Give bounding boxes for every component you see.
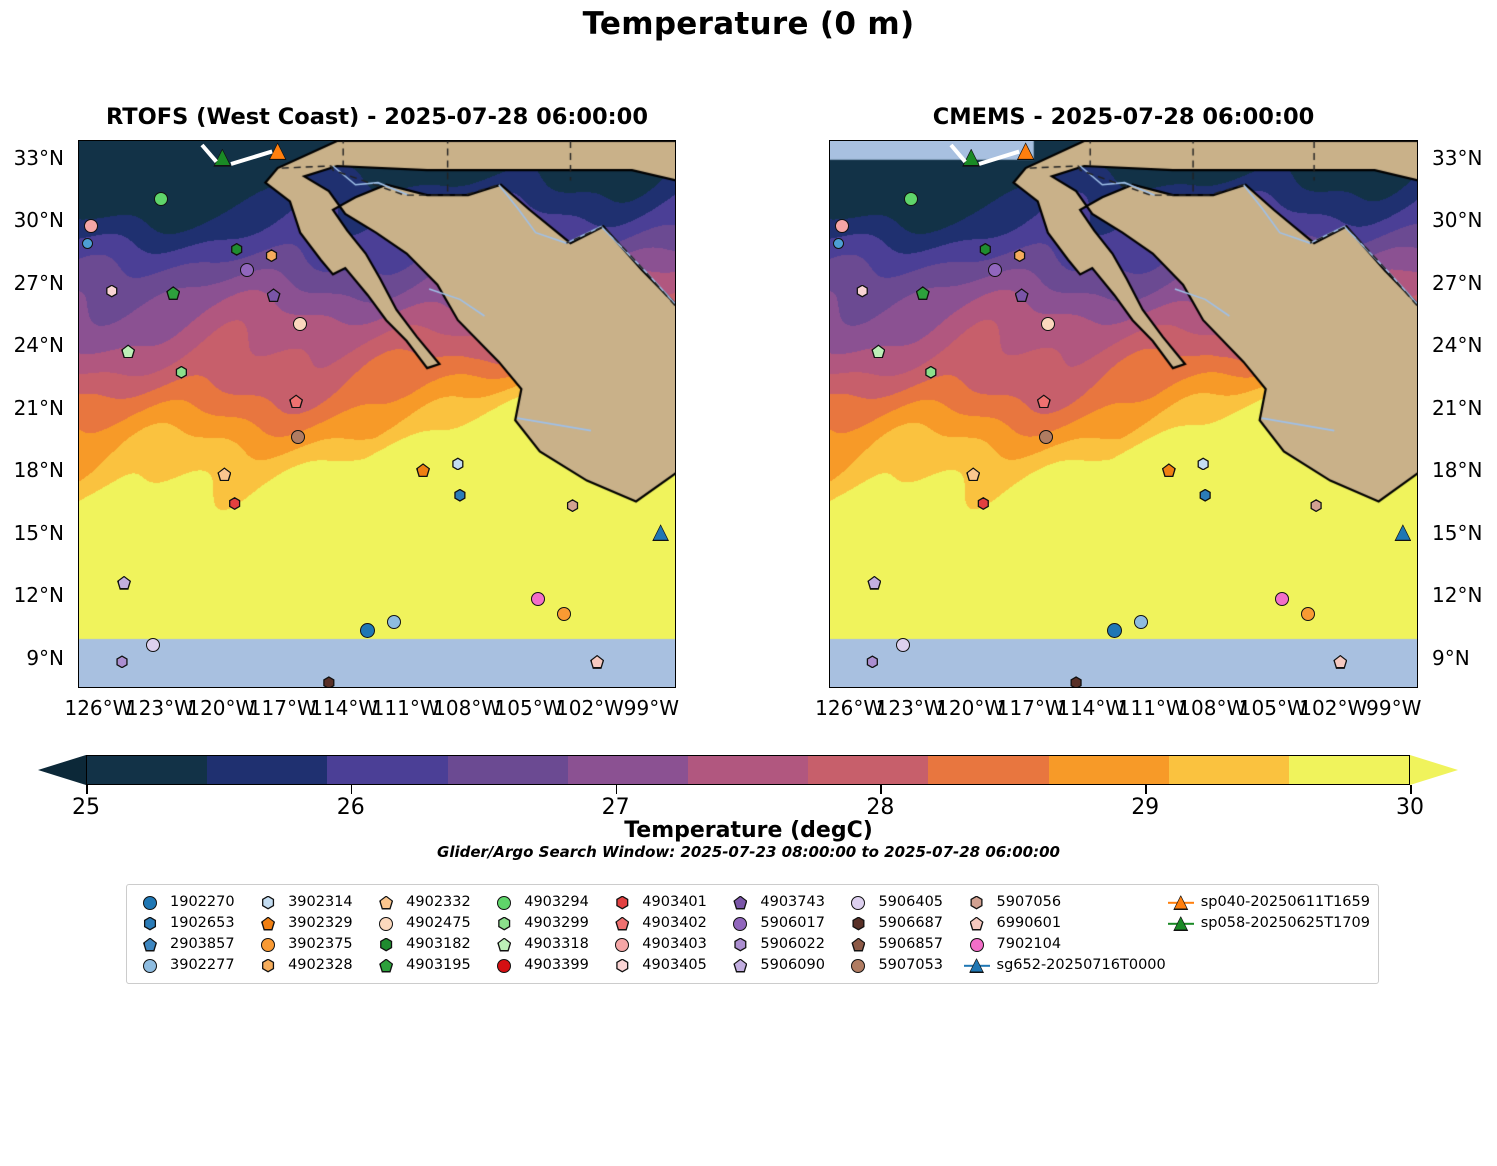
legend-item-sg652-20250716T0000[interactable]: sg652-20250716T0000 [962,955,1166,976]
legend-marker-pent-icon [609,915,635,933]
colorbar-segment-5 [688,756,808,784]
x-tick-minor [0,1082,2,1089]
x-tick [0,248,2,259]
colorbar-segment-1 [207,756,327,784]
legend-label: 3902329 [288,913,353,934]
legend-marker-pent-icon [373,894,399,912]
map-marker-5906022[interactable] [116,655,129,668]
map-marker-4903399[interactable] [1107,623,1122,638]
map-marker-3902277[interactable] [833,238,844,249]
colorbar-tick [880,785,882,794]
legend-label: 4903299 [524,913,589,934]
x-tick-minor [0,548,2,555]
x-tick-minor [0,513,2,520]
map-marker-4903743[interactable] [267,288,281,302]
legend-marker-pent-icon [255,915,281,933]
x-tick-label: 111°W [372,696,440,720]
legend-item-4903294[interactable]: 4903294 [489,892,607,913]
legend-marker-pent-icon [727,894,753,912]
colorbar-segment-9 [1169,756,1289,784]
sst-field-cmems [830,141,1418,688]
x-tick-minor [0,1110,2,1117]
legend-marker-tri-icon [1168,915,1194,933]
legend-label: 4902475 [406,913,471,934]
y-tick-label: 9°N [1432,646,1470,670]
map-marker-4903402[interactable] [289,394,303,408]
y-tick-label: 33°N [0,146,64,170]
legend-item-5906017[interactable]: 5906017 [725,913,843,934]
x-tick-label: 120°W [187,696,255,720]
y-tick-label: 27°N [0,271,64,295]
legend-label: 4903402 [642,913,707,934]
x-tick-label: 117°W [997,696,1065,720]
search-window-text: Glider/Argo Search Window: 2025-07-23 08… [0,843,1497,861]
legend-label: 1902653 [170,913,235,934]
colorbar-tick-label: 30 [1380,795,1440,820]
x-tick [0,765,2,776]
x-tick-label: 99°W [1360,696,1428,720]
legend-item-2903857[interactable]: 2903857 [135,934,253,955]
legend-marker-hex-icon [255,957,281,975]
legend-item-6990601[interactable]: 6990601 [962,913,1166,934]
x-tick-minor [0,1152,2,1159]
legend-marker-tri-icon [1168,894,1194,912]
map-marker-3902329[interactable] [1162,463,1176,477]
x-tick [0,171,2,182]
map-marker-4903299[interactable] [924,366,937,379]
x-tick-minor [0,942,2,949]
x-tick-label: 102°W [556,696,624,720]
legend-marker-hex-icon [137,915,163,933]
x-tick-minor [0,373,2,380]
x-tick [0,116,2,127]
legend-item-1902653[interactable]: 1902653 [135,913,253,934]
legend-item-4903402[interactable]: 4903402 [607,913,725,934]
map-marker-4903318[interactable] [121,344,135,358]
colorbar-tick [351,785,353,794]
y-tick-label: 27°N [1432,271,1482,295]
legend-item-5906405[interactable]: 5906405 [843,892,961,913]
x-tick-label: 99°W [617,696,685,720]
x-tick-minor [0,949,2,956]
legend-label: 4903743 [760,892,825,913]
legend-marker-pent-icon [137,936,163,954]
legend-label: 4903399 [524,955,589,976]
legend-item-7902104[interactable]: 7902104 [962,934,1166,955]
legend-item-4903318[interactable]: 4903318 [489,934,607,955]
x-tick-minor [0,1075,2,1082]
map-marker-4903401[interactable] [228,497,241,510]
legend-item-5906687[interactable]: 5906687 [843,913,961,934]
x-tick-minor [0,450,2,457]
x-tick-minor [0,1047,2,1054]
colorbar-tick [616,785,618,794]
map-marker-5906687[interactable] [322,676,335,688]
x-tick [0,699,2,710]
map-marker-4902475[interactable] [1041,317,1055,331]
x-tick [0,259,2,270]
map-marker-4903403[interactable] [835,219,849,233]
map-marker-4903403[interactable] [84,219,98,233]
legend-label: 4903294 [524,892,589,913]
map-marker-1902653[interactable] [1199,489,1212,502]
legend-label: 3902375 [288,934,353,955]
map-marker-5906090[interactable] [117,576,131,590]
legend-item-3902375[interactable]: 3902375 [253,934,371,955]
y-tick-label: 9°N [0,646,64,670]
colorbar-tick-label: 25 [56,795,116,820]
x-tick-minor [0,310,2,317]
map-marker-5906022[interactable] [866,655,879,668]
y-tick-label: 30°N [1432,208,1482,232]
legend-label: 5906090 [760,955,825,976]
x-tick-minor [0,1138,2,1145]
x-tick-minor [0,984,2,991]
map-marker-1902653[interactable] [453,489,466,502]
x-tick-minor [0,956,2,963]
x-tick-minor [0,317,2,324]
platform-legend[interactable]: 1902270190265329038573902277390231439023… [126,884,1379,984]
legend-marker-tri-icon [964,957,990,975]
x-tick-minor [0,928,2,935]
x-tick [0,875,2,886]
legend-item-1902270[interactable]: 1902270 [135,892,253,913]
x-tick-minor [0,1145,2,1152]
x-tick-minor [0,1068,2,1075]
x-tick-minor [0,569,2,576]
legend-marker-pent-icon [964,915,990,933]
map-panel-rtofs[interactable] [78,140,676,688]
legend-marker-hex-icon [727,936,753,954]
legend-item-5906022[interactable]: 5906022 [725,934,843,955]
y-tick-label: 30°N [0,208,64,232]
x-tick-minor [0,1124,2,1131]
map-marker-5907056[interactable] [566,499,579,512]
x-tick-label: 114°W [310,696,378,720]
legend-label: sg652-20250716T0000 [997,955,1166,976]
x-tick-label: 126°W [64,696,132,720]
legend-marker-hex-icon [609,957,635,975]
legend-marker-circle-icon [845,957,871,975]
y-tick-label: 33°N [1432,146,1482,170]
legend-marker-pent-icon [373,957,399,975]
x-tick-minor [0,963,2,970]
legend-marker-circle-icon [137,957,163,975]
legend-item-5906857[interactable]: 5906857 [843,934,961,955]
x-tick-minor [0,562,2,569]
x-tick-label: 108°W [1178,696,1246,720]
x-tick [0,787,2,798]
legend-item-3902314[interactable]: 3902314 [253,892,371,913]
colorbar-tick [1145,785,1147,794]
x-tick-label: 123°W [876,696,944,720]
map-marker-4903405[interactable] [105,285,118,298]
x-tick-minor [0,429,2,436]
x-tick-label: 123°W [126,696,194,720]
legend-item-5907053[interactable]: 5907053 [843,955,961,976]
x-tick [0,105,2,116]
legend-label: 3902314 [288,892,353,913]
legend-label: 5907053 [878,955,943,976]
x-tick-minor [0,359,2,366]
colorbar-segment-6 [808,756,928,784]
legend-marker-circle-icon [255,936,281,954]
x-tick-minor [0,576,2,583]
legend-label: 6990601 [997,913,1062,934]
legend-item-4903399[interactable]: 4903399 [489,955,607,976]
x-tick [0,182,2,193]
x-tick-minor [0,991,2,998]
colorbar-tick-label: 29 [1115,795,1175,820]
map-marker-5906090[interactable] [867,576,881,590]
x-tick-minor [0,893,2,900]
map-marker-4903195[interactable] [916,286,930,300]
map-marker-5907053[interactable] [1039,430,1053,444]
colorbar-tick [1410,785,1412,794]
legend-item-sp058-20250625T1709[interactable]: sp058-20250625T1709 [1166,913,1370,934]
y-tick-label: 12°N [0,583,64,607]
x-tick-label: 105°W [1239,696,1307,720]
x-tick [0,83,2,94]
x-tick-minor [0,921,2,928]
legend-item-3902329[interactable]: 3902329 [253,913,371,934]
legend-item-5907056[interactable]: 5907056 [962,892,1166,913]
legend-item-4903743[interactable]: 4903743 [725,892,843,913]
x-tick [0,776,2,787]
colorbar-extend-low [38,755,86,785]
colorbar-segment-4 [568,756,688,784]
y-tick-label: 21°N [0,396,64,420]
x-tick-label: 105°W [495,696,563,720]
legend-item-4903401[interactable]: 4903401 [607,892,725,913]
x-tick-minor [0,436,2,443]
legend-label: 5907056 [997,892,1062,913]
map-marker-4903294[interactable] [154,192,168,206]
legend-marker-circle-icon [727,915,753,933]
x-tick-minor [0,977,2,984]
x-tick-minor [0,1061,2,1068]
legend-label: 5906405 [878,892,943,913]
map-marker-4903182[interactable] [230,243,243,256]
x-tick-label: 102°W [1299,696,1367,720]
map-marker-3902314[interactable] [1197,457,1210,470]
panel-title-rtofs: RTOFS (West Coast) - 2025-07-28 06:00:00 [35,104,719,130]
x-tick-minor [0,422,2,429]
legend-label: sp058-20250625T1709 [1201,913,1370,934]
legend-item-4903182[interactable]: 4903182 [371,934,489,955]
legend-item-sp040-20250611T1659[interactable]: sp040-20250611T1659 [1166,892,1370,913]
legend-marker-circle-icon [964,936,990,954]
legend-label: 4902332 [406,892,471,913]
legend-label: 4902328 [288,955,353,976]
colorbar-tick-label: 27 [586,795,646,820]
map-marker-4903405[interactable] [856,285,869,298]
legend-label: 4903318 [524,934,589,955]
y-tick-label: 12°N [1432,583,1482,607]
colorbar-segment-8 [1049,756,1169,784]
legend-label: 2903857 [170,934,235,955]
colorbar-segment-7 [928,756,1048,784]
colorbar-segment-3 [448,756,568,784]
y-tick-label: 24°N [1432,333,1482,357]
map-marker-5906017[interactable] [240,263,254,277]
x-tick-minor [0,1040,2,1047]
map-marker-5907053[interactable] [291,430,305,444]
legend-marker-circle-icon [491,957,517,975]
legend-label: 4903195 [406,955,471,976]
x-tick-label: 117°W [249,696,317,720]
x-tick-minor [0,1103,2,1110]
figure-title: Temperature (0 m) [0,6,1497,42]
map-marker-4903743[interactable] [1015,288,1029,302]
x-tick [0,237,2,248]
colorbar [38,755,1458,785]
sst-field-rtofs [79,141,676,688]
x-tick [0,754,2,765]
x-tick-minor [0,492,2,499]
x-tick-label: 111°W [1118,696,1186,720]
x-tick-minor [0,485,2,492]
map-marker-4903299[interactable] [175,366,188,379]
x-tick [0,94,2,105]
map-marker-3902277[interactable] [82,238,93,249]
y-tick-label: 18°N [0,458,64,482]
x-tick-label: 114°W [1057,696,1125,720]
colorbar-label: Temperature (degC) [0,818,1497,843]
x-tick-minor [0,1054,2,1061]
legend-marker-pent-icon [727,957,753,975]
legend-label: 7902104 [997,934,1062,955]
legend-label: 4903405 [642,955,707,976]
map-marker-7902104[interactable] [1275,592,1289,606]
x-tick-label: 120°W [936,696,1004,720]
map-marker-5906687[interactable] [1070,676,1083,688]
map-marker-3902329[interactable] [416,463,430,477]
x-tick-minor [0,1012,2,1019]
colorbar-body [86,755,1410,785]
legend-item-3902277[interactable]: 3902277 [135,955,253,976]
map-marker-5907056[interactable] [1310,499,1323,512]
map-marker-4903401[interactable] [977,497,990,510]
legend-item-4902328[interactable]: 4902328 [253,955,371,976]
map-marker-4903182[interactable] [979,243,992,256]
x-tick [0,127,2,138]
x-tick [0,193,2,204]
map-marker-3902375[interactable] [557,607,571,621]
legend-marker-circle-icon [609,936,635,954]
map-marker-4903195[interactable] [166,286,180,300]
legend-marker-pent-icon [845,936,871,954]
map-marker-7902104[interactable] [531,592,545,606]
map-panel-cmems[interactable] [829,140,1418,688]
x-tick-minor [0,443,2,450]
map-marker-6990601[interactable] [1333,655,1347,669]
map-marker-4903294[interactable] [904,192,918,206]
legend-label: 4903401 [642,892,707,913]
x-tick-minor [0,1159,2,1166]
x-tick-minor [0,555,2,562]
y-tick-label: 24°N [0,333,64,357]
map-marker-4902328[interactable] [1013,249,1026,262]
legend-item-4903299[interactable]: 4903299 [489,913,607,934]
map-marker-3902314b[interactable] [1134,615,1148,629]
legend-label: 4903403 [642,934,707,955]
legend-marker-pent-icon [491,936,517,954]
x-tick-label: 108°W [433,696,501,720]
legend-label: 5906687 [878,913,943,934]
x-tick-minor [0,380,2,387]
legend-item-4902475[interactable]: 4902475 [371,913,489,934]
x-tick-minor [0,1026,2,1033]
legend-marker-hex-icon [609,894,635,912]
map-marker-3902375[interactable] [1301,607,1315,621]
x-tick-minor [0,1117,2,1124]
y-tick-label: 21°N [1432,396,1482,420]
colorbar-tick [86,785,88,794]
legend-marker-hex-icon [964,894,990,912]
legend-marker-hex-icon [373,936,399,954]
colorbar-tick-label: 28 [850,795,910,820]
x-tick-minor [0,366,2,373]
legend-item-4903195[interactable]: 4903195 [371,955,489,976]
map-marker-6990601[interactable] [590,655,604,669]
legend-item-5906090[interactable]: 5906090 [725,955,843,976]
x-tick-minor [0,387,2,394]
x-tick-minor [0,1033,2,1040]
map-marker-4902332[interactable] [217,467,231,481]
map-marker-4902328[interactable] [265,249,278,262]
x-tick-minor [0,1019,2,1026]
x-tick-minor [0,914,2,921]
colorbar-tick-label: 26 [321,795,381,820]
x-tick-minor [0,900,2,907]
map-marker-5906405[interactable] [146,638,160,652]
x-tick-minor [0,1131,2,1138]
legend-label: 4903182 [406,934,471,955]
legend-marker-hex-icon [491,915,517,933]
map-marker-4902332[interactable] [966,467,980,481]
map-marker-sg652-20250716T0000[interactable] [652,524,669,541]
map-marker-3902314[interactable] [451,457,464,470]
colorbar-segment-0 [87,756,207,784]
panel-title-cmems: CMEMS - 2025-07-28 06:00:00 [829,104,1418,130]
map-marker-4903402[interactable] [1037,394,1051,408]
map-marker-4903318[interactable] [871,344,885,358]
legend-item-4902332[interactable]: 4902332 [371,892,489,913]
x-tick-minor [0,970,2,977]
legend-marker-circle-icon [373,915,399,933]
map-marker-sg652-20250716T0000[interactable] [1394,524,1411,541]
map-marker-3902314b[interactable] [387,615,401,629]
x-tick-minor [0,324,2,331]
map-marker-5906405[interactable] [896,638,910,652]
legend-marker-circle-icon [137,894,163,912]
map-marker-5906017[interactable] [988,263,1002,277]
x-tick-minor [0,499,2,506]
x-tick [0,710,2,721]
legend-item-4903405[interactable]: 4903405 [607,955,725,976]
x-tick-minor [0,935,2,942]
legend-item-4903403[interactable]: 4903403 [607,934,725,955]
x-tick-minor [0,907,2,914]
legend-label: 3902277 [170,955,235,976]
x-tick-minor [0,1005,2,1012]
x-tick-label: 126°W [815,696,883,720]
legend-label: 5906857 [878,934,943,955]
legend-marker-circle-icon [845,894,871,912]
map-marker-4903399[interactable] [360,623,375,638]
map-marker-4902475[interactable] [293,317,307,331]
